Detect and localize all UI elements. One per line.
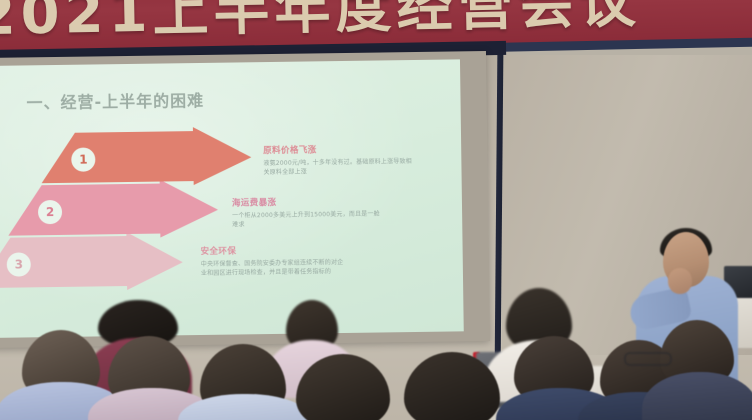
- speaker-hand-with-microphone: [668, 268, 692, 294]
- slide-item-1: 原料价格飞涨 液氨2000元/吨，十多年没有过。基础原料上涨导致相关原料全部上涨: [263, 142, 413, 177]
- slide-item-1-heading: 原料价格飞涨: [263, 142, 413, 156]
- conference-room-photo: 2021上半年度经营会议 一、经营-上半年的困难 3 2 1: [0, 0, 752, 420]
- slide-item-3-body: 中央环保督查、国务院安委办专家组连续不断的对企业和园区进行现场检查，并且是带着任…: [201, 258, 349, 278]
- slide-item-2: 海运费暴涨 一个柜从2000多美元上升到15000美元，而且是一舱难求: [232, 194, 382, 229]
- slide-item-2-body: 一个柜从2000多美元上升到15000美元，而且是一舱难求: [232, 209, 382, 229]
- slide-item-2-heading: 海运费暴涨: [232, 194, 382, 208]
- slide-item-1-body: 液氨2000元/吨，十多年没有过。基础原料上涨导致相关原料全部上涨: [263, 157, 413, 177]
- eyeglasses-icon: [624, 352, 672, 366]
- slide-title: 一、经营-上半年的困难: [26, 87, 204, 113]
- slide-item-3: 安全环保 中央环保督查、国务院安委办专家组连续不断的对企业和园区进行现场检查，并…: [201, 243, 349, 278]
- projected-slide: 一、经营-上半年的困难 3 2 1 原料价格飞涨 液氨2000元/吨，十多年没有…: [0, 59, 464, 338]
- slide-item-3-heading: 安全环保: [201, 243, 349, 257]
